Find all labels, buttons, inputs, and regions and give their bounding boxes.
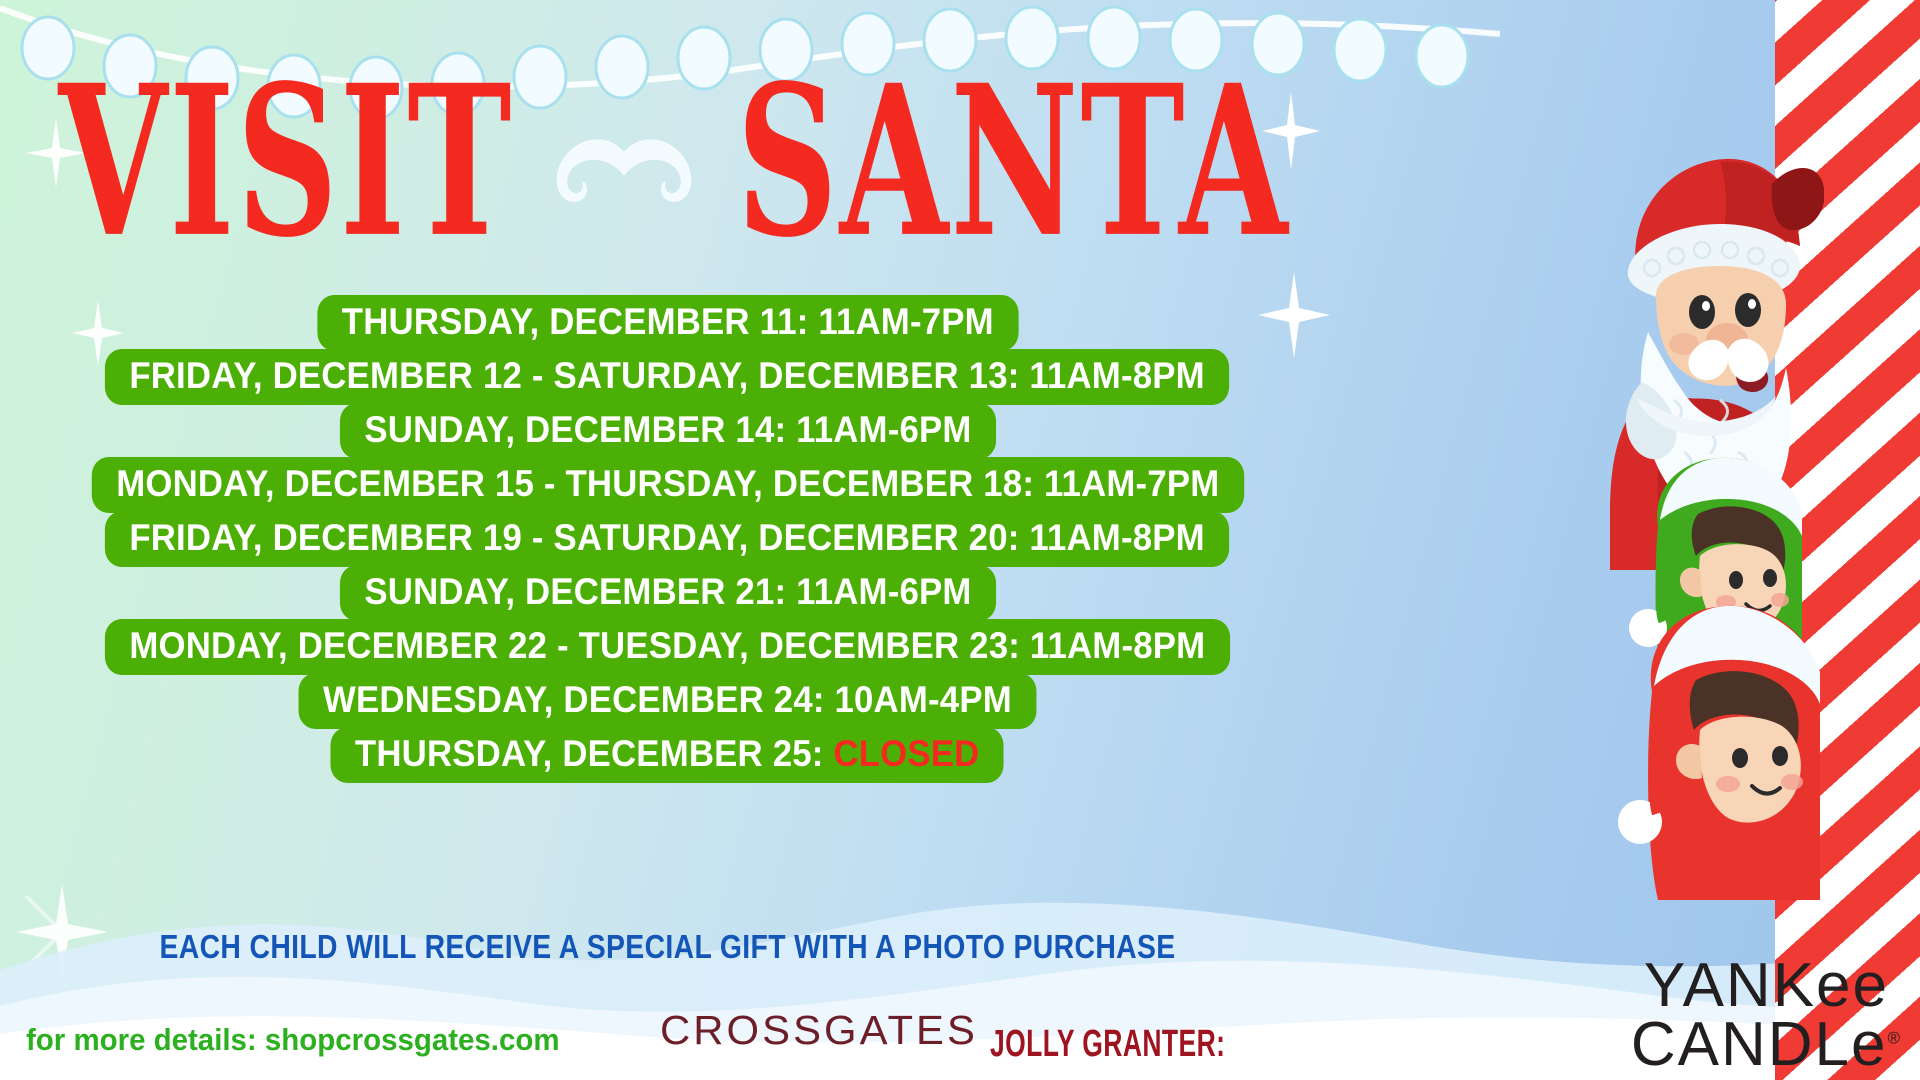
schedule-row-text: FRIDAY, DECEMBER 19 - SATURDAY, DECEMBER… — [130, 517, 1205, 558]
closed-label: CLOSED — [834, 733, 980, 774]
schedule-row-text: WEDNESDAY, DECEMBER 24: 10AM-4PM — [323, 679, 1012, 720]
schedule-row-text: SUNDAY, DECEMBER 14: 11AM-6PM — [364, 409, 971, 450]
schedule-row-text: FRIDAY, DECEMBER 12 - SATURDAY, DECEMBER… — [130, 355, 1205, 396]
yankee-logo-line1: YANKee — [1631, 957, 1902, 1015]
yankee-candle-logo: YANKee CANDLe® — [1631, 957, 1902, 1074]
crossgates-logo: CROSSGATES — [660, 1007, 978, 1054]
schedule-row: SUNDAY, DECEMBER 21: 11AM-6PM — [339, 565, 995, 621]
gift-tagline: EACH CHILD WILL RECEIVE A SPECIAL GIFT W… — [93, 928, 1241, 966]
schedule-row-text: MONDAY, DECEMBER 15 - THURSDAY, DECEMBER… — [116, 463, 1219, 504]
registered-mark: ® — [1887, 1028, 1902, 1047]
schedule-row: MONDAY, DECEMBER 22 - TUESDAY, DECEMBER … — [105, 619, 1230, 675]
schedule-row-text: THURSDAY, DECEMBER 11: 11AM-7PM — [341, 301, 993, 342]
yankee-logo-line2: CANDLe® — [1631, 1016, 1902, 1074]
schedule-row-text: SUNDAY, DECEMBER 21: 11AM-6PM — [364, 571, 971, 612]
schedule-row: MONDAY, DECEMBER 15 - THURSDAY, DECEMBER… — [91, 457, 1243, 513]
schedule-row-text: THURSDAY, DECEMBER 25: — [355, 733, 833, 774]
schedule-row: SUNDAY, DECEMBER 14: 11AM-6PM — [339, 403, 995, 459]
schedule-row: FRIDAY, DECEMBER 19 - SATURDAY, DECEMBER… — [105, 511, 1229, 567]
elf-red-hat-illustration — [1590, 600, 1820, 900]
schedule-row: FRIDAY, DECEMBER 12 - SATURDAY, DECEMBER… — [105, 349, 1229, 405]
schedule-row: THURSDAY, DECEMBER 11: 11AM-7PM — [317, 295, 1018, 351]
schedule-row-closed: THURSDAY, DECEMBER 25: CLOSED — [331, 727, 1004, 783]
title-word-visit: VISIT — [58, 68, 513, 259]
schedule-row-text: MONDAY, DECEMBER 22 - TUESDAY, DECEMBER … — [130, 625, 1206, 666]
details-link[interactable]: for more details: shopcrossgates.com — [26, 1022, 560, 1058]
schedule-row: WEDNESDAY, DECEMBER 24: 10AM-4PM — [299, 673, 1037, 729]
moustache-icon — [549, 136, 699, 208]
jolly-granter-label: JOLLY GRANTER: — [990, 1022, 1225, 1066]
title-word-santa: SANTA — [736, 68, 1289, 259]
yankee-logo-text: CANDLe — [1631, 1010, 1888, 1079]
poster-title: VISIT SANTA — [0, 96, 1350, 230]
schedule-list: THURSDAY, DECEMBER 11: 11AM-7PM FRIDAY, … — [0, 296, 1335, 782]
footer-bar: for more details: shopcrossgates.com CRO… — [0, 970, 1920, 1080]
santa-visit-poster: VISIT SANTA THURSDAY, DECEMBER 11: 11AM-… — [0, 0, 1920, 1080]
